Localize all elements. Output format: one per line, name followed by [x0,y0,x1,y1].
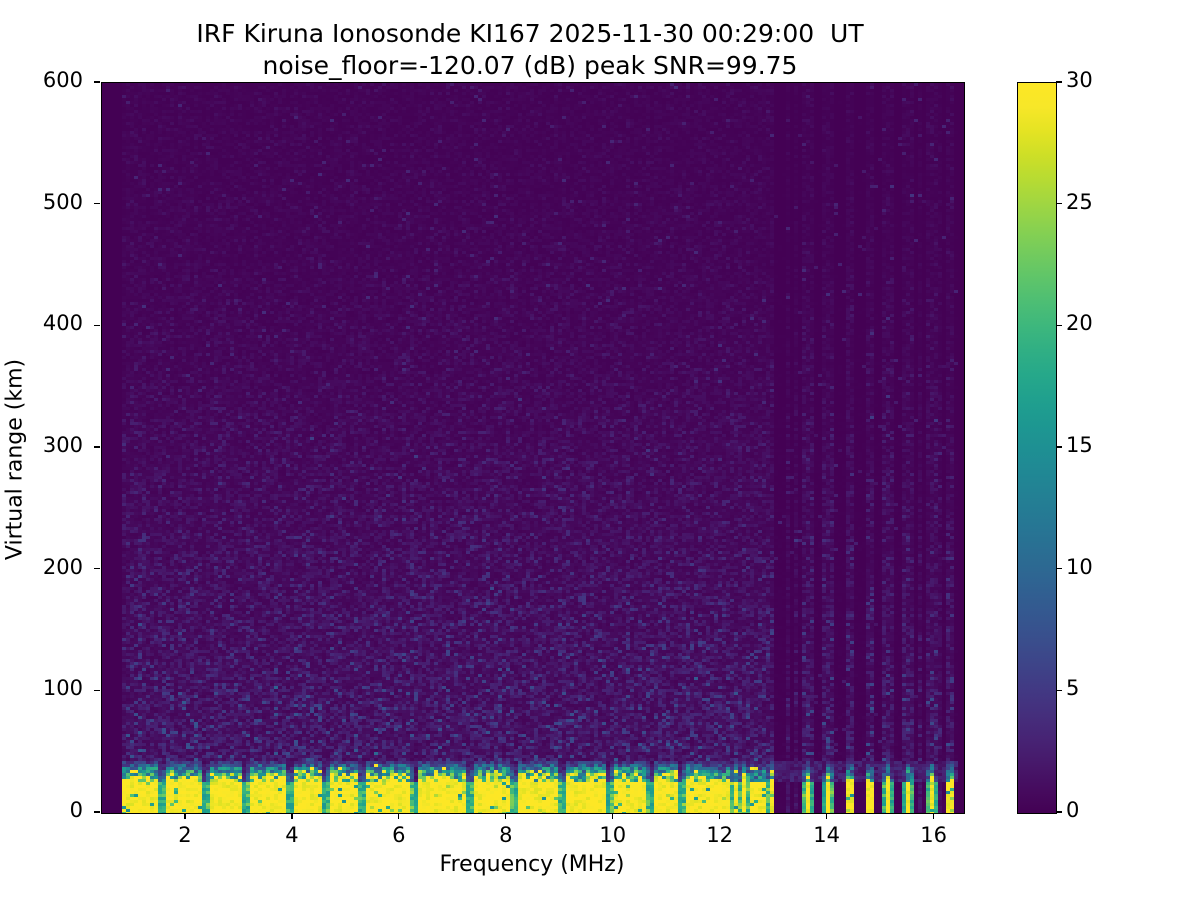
y-tick-mark [94,446,100,447]
y-tick-mark [94,690,100,691]
colorbar-tick-mark [1056,690,1062,691]
y-tick-mark [94,568,100,569]
colorbar-tick-mark [1056,81,1062,82]
colorbar-tick-label: 15 [1066,433,1093,457]
colorbar-tick-label: 10 [1066,555,1093,579]
title-line-1: IRF Kiruna Ionosonde KI167 2025-11-30 00… [0,18,1060,50]
ionogram-plot-area [101,82,965,814]
colorbar [1017,82,1057,814]
x-tick-label: 6 [359,823,439,847]
colorbar-tick-label: 5 [1066,676,1079,700]
x-tick-mark [612,813,613,819]
ionogram-heatmap [102,83,964,813]
x-tick-mark [719,813,720,819]
x-tick-mark [184,813,185,819]
colorbar-tick-mark [1056,568,1062,569]
colorbar-tick-label: 0 [1066,798,1079,822]
colorbar-tick-label: 30 [1066,68,1093,92]
y-tick-mark [94,203,100,204]
y-tick-mark [94,811,100,812]
colorbar-gradient [1018,83,1056,813]
x-tick-label: 10 [573,823,653,847]
colorbar-tick-mark [1056,811,1062,812]
x-tick-label: 4 [252,823,332,847]
x-tick-label: 2 [145,823,225,847]
colorbar-tick-mark [1056,203,1062,204]
y-tick-mark [94,81,100,82]
x-tick-label: 14 [787,823,867,847]
x-tick-label: 8 [466,823,546,847]
y-axis-label: Virtual range (km) [3,95,28,825]
x-tick-label: 16 [894,823,974,847]
colorbar-tick-mark [1056,446,1062,447]
colorbar-tick-label: 25 [1066,190,1093,214]
x-tick-mark [826,813,827,819]
x-tick-mark [291,813,292,819]
figure-title: IRF Kiruna Ionosonde KI167 2025-11-30 00… [0,18,1060,82]
x-tick-label: 12 [680,823,760,847]
x-axis-label: Frequency (MHz) [101,852,963,877]
y-tick-mark [94,325,100,326]
x-tick-mark [398,813,399,819]
title-line-2: noise_floor=-120.07 (dB) peak SNR=99.75 [0,50,1060,82]
colorbar-tick-label: 20 [1066,311,1093,335]
ionogram-figure: IRF Kiruna Ionosonde KI167 2025-11-30 00… [0,0,1200,900]
x-tick-mark [505,813,506,819]
x-tick-mark [933,813,934,819]
y-tick-label: 600 [3,68,83,92]
colorbar-tick-mark [1056,325,1062,326]
